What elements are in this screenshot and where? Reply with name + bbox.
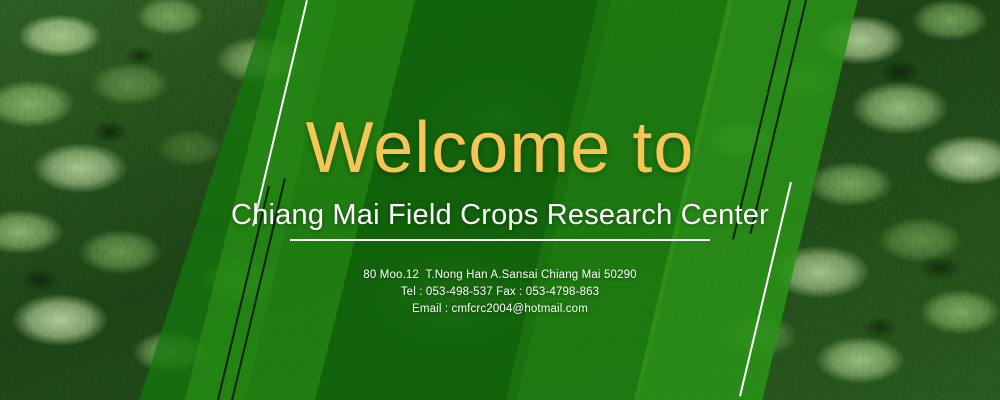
- contact-address: 80 Moo.12 T.Nong Han A.Sansai Chiang Mai…: [363, 267, 636, 284]
- contact-details: 80 Moo.12 T.Nong Han A.Sansai Chiang Mai…: [363, 267, 636, 318]
- welcome-headline: Welcome to: [306, 112, 695, 184]
- contact-phone: Tel : 053-498-537 Fax : 053-4798-863: [363, 284, 636, 301]
- contact-email: Email : cmfcrc2004@hotmail.com: [363, 301, 636, 318]
- organization-underline-rule: [290, 239, 710, 241]
- welcome-banner: Welcome to Chiang Mai Field Crops Resear…: [0, 0, 1000, 400]
- banner-content: Welcome to Chiang Mai Field Crops Resear…: [0, 0, 1000, 400]
- organization-name: Chiang Mai Field Crops Research Center: [231, 200, 769, 230]
- organization-block: Chiang Mai Field Crops Research Center: [231, 200, 769, 241]
